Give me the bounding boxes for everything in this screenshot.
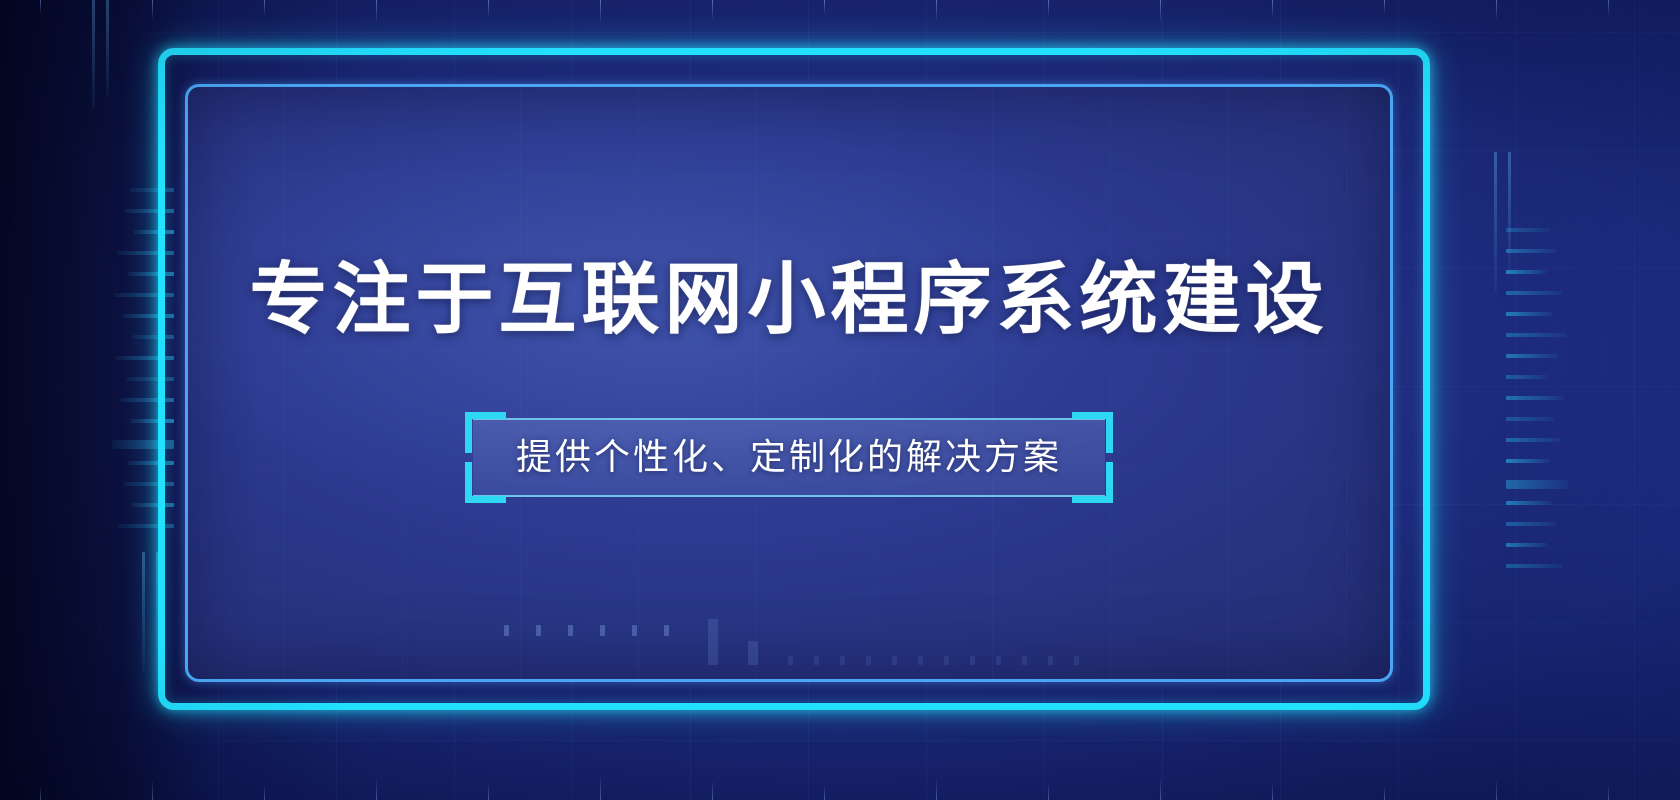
ruler-bar: [1506, 501, 1552, 505]
ruler-bar: [1506, 228, 1550, 232]
tick-mark: [712, 0, 713, 20]
tick-mark: [1608, 784, 1609, 800]
vertical-stroke: [106, 0, 109, 96]
tick-mark: [1496, 0, 1497, 21]
ruler-bar: [1506, 249, 1556, 253]
ruler-bar: [1506, 375, 1548, 379]
vertical-stroke: [1508, 152, 1511, 272]
tick-mark: [936, 778, 937, 800]
subtitle-block: 提供个性化、定制化的解决方案: [473, 418, 1105, 497]
subtitle-text: 提供个性化、定制化的解决方案: [509, 434, 1069, 479]
tick-mark: [936, 0, 937, 22]
tick-mark: [1048, 783, 1049, 800]
tick-mark: [152, 0, 153, 21]
ruler-bar: [1506, 291, 1562, 295]
banner-content: 专注于互联网小程序系统建设 提供个性化、定制化的解决方案: [188, 87, 1390, 679]
tick-mark: [264, 0, 265, 16]
tick-mark: [600, 775, 601, 800]
corner-bracket-bottom-right-icon: [1072, 462, 1113, 503]
ruler-bar: [1506, 438, 1560, 442]
corner-bracket-top-right-icon: [1072, 412, 1113, 453]
subtitle-box: 提供个性化、定制化的解决方案: [473, 418, 1105, 497]
tick-mark: [824, 0, 825, 15]
ruler-bar: [1506, 543, 1548, 547]
tick-mark: [488, 0, 489, 18]
right-vertical-strokes: [1494, 152, 1534, 292]
banner-stage: 专注于互联网小程序系统建设 提供个性化、定制化的解决方案: [0, 0, 1680, 800]
ruler-bar: [1506, 354, 1558, 358]
top-edge-ticks: [0, 0, 1680, 34]
tick-mark: [264, 784, 265, 800]
tick-mark: [1160, 0, 1161, 24]
page-title: 专注于互联网小程序系统建设: [249, 260, 1328, 338]
tick-mark: [1048, 0, 1049, 17]
topleft-vertical-strokes: [92, 0, 122, 108]
ruler-bar: [1506, 480, 1568, 489]
tick-mark: [824, 785, 825, 800]
tick-mark: [600, 0, 601, 25]
tick-mark: [1384, 0, 1385, 14]
ruler-bar: [1506, 333, 1566, 337]
vertical-stroke: [1494, 152, 1497, 292]
vertical-stroke: [92, 0, 95, 108]
tick-mark: [488, 782, 489, 800]
tick-mark: [152, 779, 153, 800]
vertical-stroke: [142, 552, 145, 672]
tick-mark: [1496, 779, 1497, 800]
right-ruler-bars: [1506, 228, 1568, 608]
tick-mark: [1272, 0, 1273, 19]
ruler-bar: [1506, 522, 1556, 526]
ruler-bar: [1506, 270, 1546, 274]
tick-mark: [712, 780, 713, 800]
corner-bracket-top-left-icon: [465, 412, 506, 453]
tick-mark: [1272, 781, 1273, 800]
inner-panel: 专注于互联网小程序系统建设 提供个性化、定制化的解决方案: [185, 84, 1393, 682]
tick-mark: [376, 0, 377, 23]
ruler-bar: [1506, 564, 1562, 568]
tick-mark: [1608, 0, 1609, 16]
ruler-bar: [1506, 312, 1552, 316]
tick-mark: [1160, 776, 1161, 800]
tick-mark: [376, 777, 377, 800]
ruler-bar: [1506, 459, 1550, 463]
tick-mark: [40, 0, 41, 14]
corner-bracket-bottom-left-icon: [465, 462, 506, 503]
tick-mark: [1384, 786, 1385, 800]
ruler-bar: [1506, 396, 1564, 400]
tick-mark: [40, 786, 41, 800]
bottom-edge-ticks: [0, 766, 1680, 800]
ruler-bar: [1506, 417, 1554, 421]
